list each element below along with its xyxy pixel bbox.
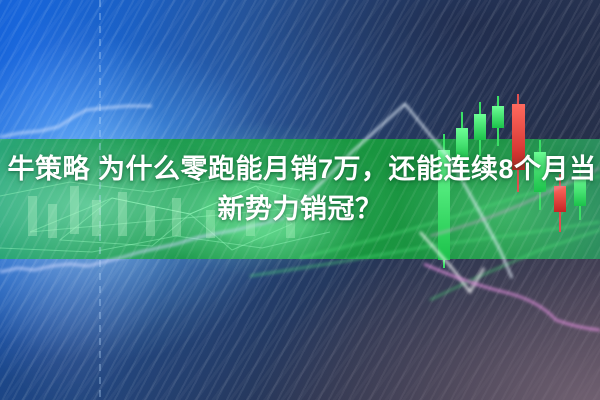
candlestick (474, 102, 486, 156)
green-halo (202, 182, 322, 242)
banner-image: 牛策略 为什么零跑能月销7万，还能连续8个月当 新势力销冠？ (0, 0, 600, 400)
candlestick (512, 94, 525, 192)
candlestick (492, 96, 504, 146)
stock-chart-artwork (0, 0, 600, 400)
upper-left-trend-line (0, 106, 152, 137)
candlestick (534, 140, 546, 210)
candlestick (574, 166, 586, 220)
candlestick (438, 134, 450, 268)
pink-trend-curve (424, 264, 600, 330)
candlestick (554, 174, 566, 232)
